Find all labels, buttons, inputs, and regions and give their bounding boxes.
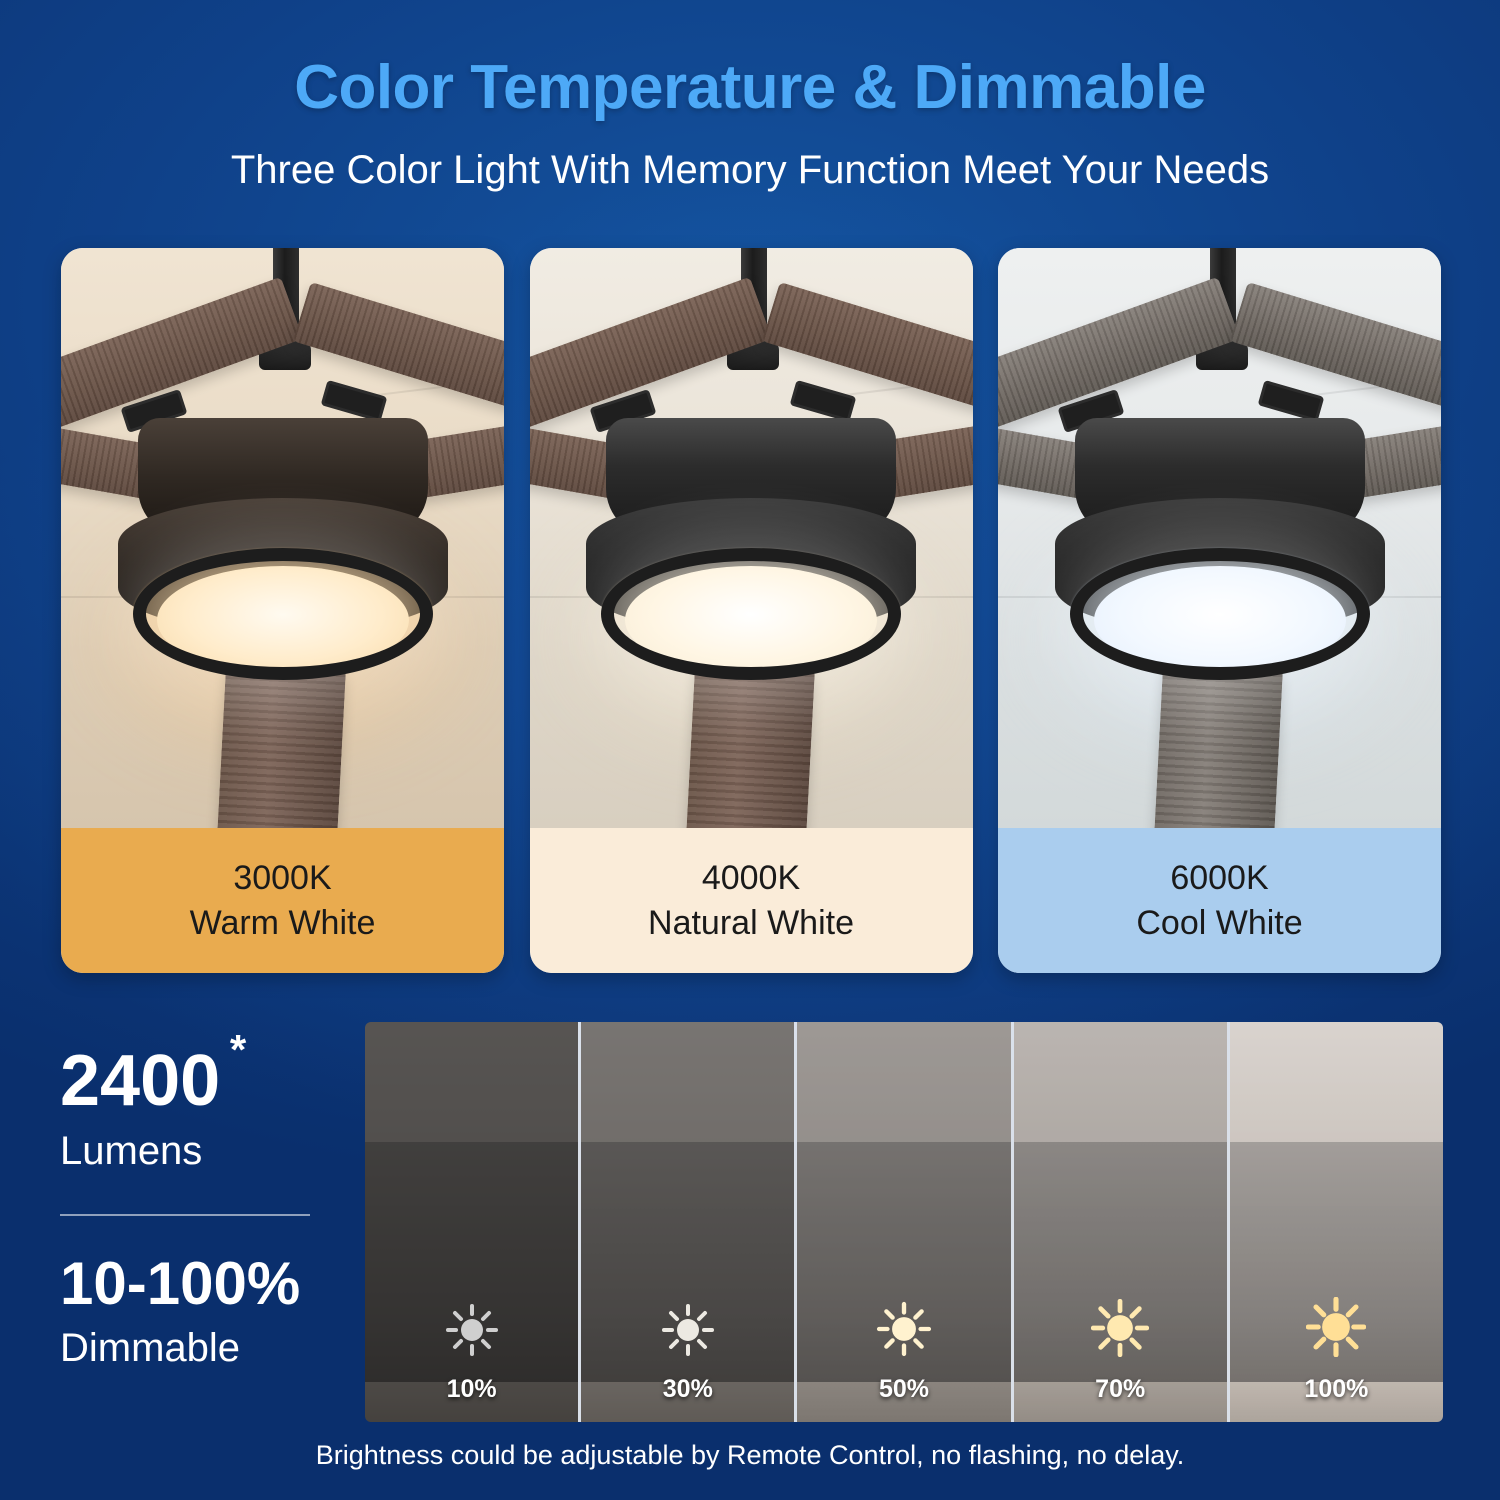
living-room-scene — [1230, 1022, 1443, 1422]
brightness-percent: 50% — [879, 1375, 929, 1404]
dimming-step-100: 100% — [1230, 1022, 1443, 1422]
card-color-name: Warm White — [190, 904, 376, 943]
brightness-icon — [445, 1303, 499, 1362]
fan-blade-front — [1153, 665, 1283, 828]
light-lens-rim — [133, 548, 433, 680]
card-caption-natural: 4000K Natural White — [530, 828, 973, 973]
page-subtitle: Three Color Light With Memory Function M… — [0, 148, 1500, 193]
brightness-icon — [1091, 1299, 1149, 1362]
brightness-percent: 100% — [1304, 1375, 1368, 1404]
dimming-level-strip: 10% — [365, 1022, 1443, 1422]
brightness-icon — [1306, 1297, 1366, 1362]
infographic-page: Color Temperature & Dimmable Three Color… — [0, 0, 1500, 1500]
card-caption-warm: 3000K Warm White — [61, 828, 504, 973]
brightness-icon — [876, 1301, 932, 1362]
dimming-step-70: 70% — [1014, 1022, 1230, 1422]
brightness-percent: 10% — [447, 1375, 497, 1404]
card-temperature: 4000K — [702, 859, 800, 898]
ceiling-fan-photo-natural — [530, 248, 973, 828]
dimming-range-value: 10-100% — [60, 1254, 320, 1314]
card-temperature: 6000K — [1170, 859, 1268, 898]
sofa-seat — [365, 1206, 581, 1390]
brightness-percent: 30% — [663, 1375, 713, 1404]
color-temperature-cards: 3000K Warm White — [61, 248, 1441, 973]
light-lens-rim — [601, 548, 901, 680]
dimming-step-30: 30% — [581, 1022, 797, 1422]
card-caption-cool: 6000K Cool White — [998, 828, 1441, 973]
color-card-natural: 4000K Natural White — [530, 248, 973, 973]
dimming-step-50: 50% — [797, 1022, 1013, 1422]
lumens-label: Lumens — [60, 1129, 320, 1174]
lumens-value-wrap: 2400 * — [60, 1045, 220, 1117]
sofa-seat — [581, 1206, 797, 1390]
lumens-value: 2400 — [60, 1041, 220, 1121]
card-color-name: Cool White — [1136, 904, 1302, 943]
dimming-footnote: Brightness could be adjustable by Remote… — [0, 1440, 1500, 1471]
light-lens-rim — [1070, 548, 1370, 680]
ceiling-fan-photo-warm — [61, 248, 504, 828]
specs-block: 2400 * Lumens 10-100% Dimmable — [60, 1045, 320, 1371]
card-color-name: Natural White — [648, 904, 854, 943]
color-card-cool: 6000K Cool White — [998, 248, 1441, 973]
living-room-scene — [797, 1022, 1010, 1422]
specs-divider — [60, 1214, 310, 1216]
living-room-scene — [365, 1022, 578, 1422]
dimming-label: Dimmable — [60, 1326, 320, 1371]
fan-blade-front — [685, 665, 815, 828]
dimming-step-10: 10% — [365, 1022, 581, 1422]
brightness-percent: 70% — [1095, 1375, 1145, 1404]
color-card-warm: 3000K Warm White — [61, 248, 504, 973]
fan-blade-front — [216, 665, 346, 828]
lumens-asterisk: * — [230, 1029, 246, 1071]
living-room-scene — [1014, 1022, 1227, 1422]
page-title: Color Temperature & Dimmable — [0, 52, 1500, 123]
brightness-icon — [661, 1303, 715, 1362]
card-temperature: 3000K — [233, 859, 331, 898]
ceiling-fan-photo-cool — [998, 248, 1441, 828]
sofa-seat — [1014, 1206, 1230, 1390]
living-room-scene — [581, 1022, 794, 1422]
sofa-seat — [797, 1206, 1013, 1390]
